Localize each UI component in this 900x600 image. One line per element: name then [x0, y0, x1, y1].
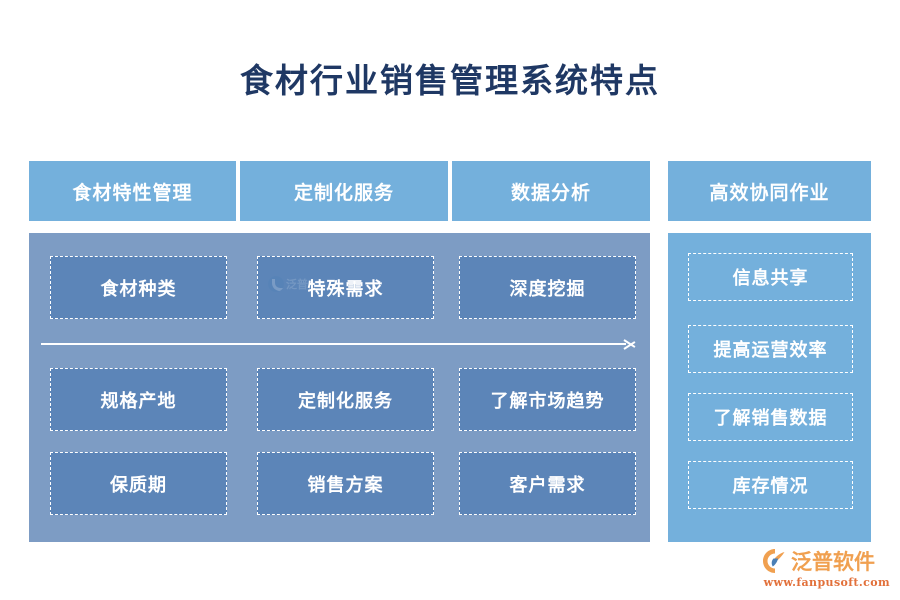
arrow-head	[624, 337, 638, 351]
header-row: 食材特性管理 定制化服务 数据分析 高效协同作业	[0, 161, 900, 221]
infographic-canvas: 食材行业销售管理系统特点 食材特性管理 定制化服务 数据分析 高效协同作业 食材…	[0, 0, 900, 600]
brand-url: www.fanpusoft.com	[762, 576, 890, 589]
benefit-cell-label: 库存情况	[733, 472, 809, 498]
feature-cell[interactable]: 销售方案	[257, 452, 434, 515]
benefit-cell[interactable]: 库存情况	[688, 461, 853, 509]
header-box-food-attributes[interactable]: 食材特性管理	[29, 161, 236, 221]
feature-cell[interactable]: 客户需求	[459, 452, 636, 515]
fanpu-logo-icon	[762, 548, 788, 574]
feature-cell-label: 特殊需求	[308, 275, 384, 301]
brand-logo: 泛普软件 www.fanpusoft.com	[762, 548, 890, 592]
feature-cell[interactable]: 了解市场趋势	[459, 368, 636, 431]
feature-cell-label: 销售方案	[308, 471, 384, 497]
header-box-label: 高效协同作业	[709, 178, 829, 205]
page-title: 食材行业销售管理系统特点	[0, 54, 900, 102]
arrow-right-icon	[41, 337, 638, 351]
brand-row: 泛普软件	[762, 548, 890, 574]
right-content-panel: 信息共享 提高运营效率 了解销售数据 库存情况	[668, 233, 871, 542]
feature-cell[interactable]: 规格产地	[50, 368, 227, 431]
feature-cell[interactable]: 保质期	[50, 452, 227, 515]
header-box-label: 食材特性管理	[72, 178, 192, 205]
feature-cell-label: 深度挖掘	[510, 275, 586, 301]
feature-cell-label: 客户需求	[510, 471, 586, 497]
feature-cell[interactable]: 特殊需求	[257, 256, 434, 319]
benefit-cell[interactable]: 信息共享	[688, 253, 853, 301]
benefit-cell[interactable]: 提高运营效率	[688, 325, 853, 373]
feature-cell-label: 规格产地	[101, 387, 177, 413]
feature-cell-label: 食材种类	[101, 275, 177, 301]
benefit-cell-label: 信息共享	[733, 264, 809, 290]
feature-cell-label: 定制化服务	[298, 387, 393, 413]
feature-cell-label: 保质期	[110, 471, 167, 497]
feature-cell[interactable]: 深度挖掘	[459, 256, 636, 319]
header-box-custom-service[interactable]: 定制化服务	[240, 161, 448, 221]
arrow-line	[41, 343, 626, 345]
feature-cell[interactable]: 定制化服务	[257, 368, 434, 431]
brand-name: 泛普软件	[791, 551, 875, 572]
benefit-cell-label: 了解销售数据	[714, 404, 828, 430]
benefit-cell-label: 提高运营效率	[714, 336, 828, 362]
header-box-label: 定制化服务	[294, 178, 394, 205]
feature-cell-label: 了解市场趋势	[491, 387, 605, 413]
left-content-panel: 食材种类 特殊需求 深度挖掘 规格产地 定制化服务 了解市场趋势 保质期 销售方…	[29, 233, 650, 542]
header-box-label: 数据分析	[511, 178, 591, 205]
feature-cell[interactable]: 食材种类	[50, 256, 227, 319]
header-box-data-analysis[interactable]: 数据分析	[452, 161, 650, 221]
benefit-cell[interactable]: 了解销售数据	[688, 393, 853, 441]
header-box-efficient-collaboration[interactable]: 高效协同作业	[668, 161, 871, 221]
